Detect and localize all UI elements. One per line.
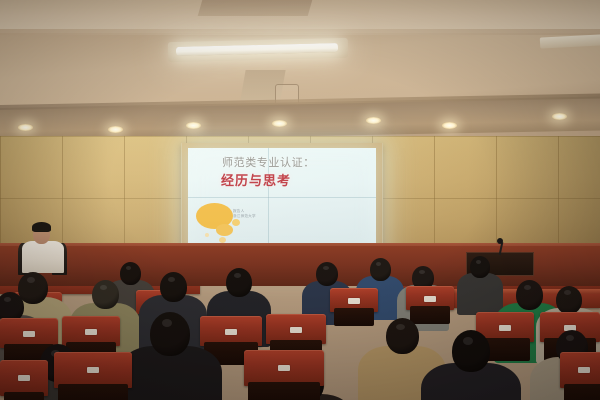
chair-number-label: [278, 365, 290, 371]
slide-blob-dot: [205, 233, 209, 237]
chair-number-label: [23, 331, 35, 337]
presenter-shirt: [22, 241, 64, 273]
downlight-6: [442, 122, 457, 129]
chair-number-label: [424, 296, 436, 302]
attendee-left-edge-hair-highlight: [4, 297, 11, 302]
chair-back-seat-4: [410, 306, 450, 324]
attendee-front-center-hair-highlight: [162, 319, 172, 327]
chair-number-label: [348, 298, 360, 304]
slide-byline: 报告人 浙江师范大学: [233, 209, 256, 219]
downlight-2: [108, 126, 123, 133]
slide-blob-small: [232, 219, 240, 226]
attendee-dark-right-head: [470, 256, 490, 278]
attendee-front-right-hair-highlight: [566, 335, 574, 341]
attendee-front-tan-hair-highlight: [396, 324, 405, 330]
chair-front-seat-3: [4, 392, 44, 400]
attendee-longhair-l-hair-highlight: [126, 266, 131, 270]
slide-byline-affiliation: 浙江师范大学: [233, 214, 256, 219]
lecture-hall-photo: 师范类专业认证： 经历与思考 报告人 浙江师范大学: [0, 0, 600, 400]
slide-subtitle-line: 经历与思考: [221, 170, 371, 189]
ceiling-recess-vent: [198, 0, 313, 16]
chair-number-label: [578, 367, 590, 373]
chair-number-label: [87, 367, 99, 373]
chair-number-label: [85, 329, 97, 335]
downlight-1: [18, 124, 33, 131]
slide-title-line: 师范类专业认证：: [222, 154, 367, 170]
chair-number-label: [225, 329, 237, 335]
attendee-longhair-l-head: [120, 262, 141, 285]
attendee-blue-jacket-head: [370, 258, 391, 281]
attendee-olive-cap-hair-highlight: [100, 285, 107, 290]
chair-front-seat-1: [58, 384, 128, 400]
attendee-green-lady-hair-highlight: [524, 285, 531, 290]
downlight-4: [272, 120, 287, 127]
attendee-tan-jacket-hair-highlight: [27, 277, 35, 283]
chair-front-seat-2: [248, 382, 320, 400]
chair-number-label: [499, 325, 511, 331]
attendee-dark-right-hair-highlight: [476, 260, 481, 264]
attendee-front-center-head: [150, 312, 190, 356]
presenter-glasses-icon: [35, 230, 48, 234]
ceiling-edge-line: [0, 29, 600, 35]
chair-back-seat-3: [334, 308, 374, 326]
slide-blob-medium: [216, 224, 233, 236]
attendee-front-dark-hair-highlight: [463, 337, 473, 345]
attendee-dark-mid-hair-highlight: [168, 277, 175, 282]
screen-seam-horizontal: [188, 197, 376, 198]
attendee-grey-stripe-hair-highlight: [419, 270, 425, 274]
attendee-olive-cap-head: [92, 280, 119, 309]
downlight-5: [366, 117, 381, 124]
chair-number-label: [290, 327, 302, 333]
downlight-3: [186, 122, 201, 129]
attendee-beige-right-hair-highlight: [564, 290, 571, 295]
attendee-navy-cap-hair-highlight: [323, 266, 329, 270]
attendee-dark-right-torso: [457, 273, 503, 315]
attendee-front-dark-head: [452, 330, 490, 372]
chair-number-label: [18, 375, 30, 381]
downlight-7: [552, 113, 567, 120]
desk-microphone-icon: [497, 238, 503, 244]
chair-front-seat-4: [564, 384, 600, 400]
attendee-blue-jacket-hair-highlight: [376, 262, 381, 266]
attendee-black-mid-hair-highlight: [234, 273, 241, 278]
